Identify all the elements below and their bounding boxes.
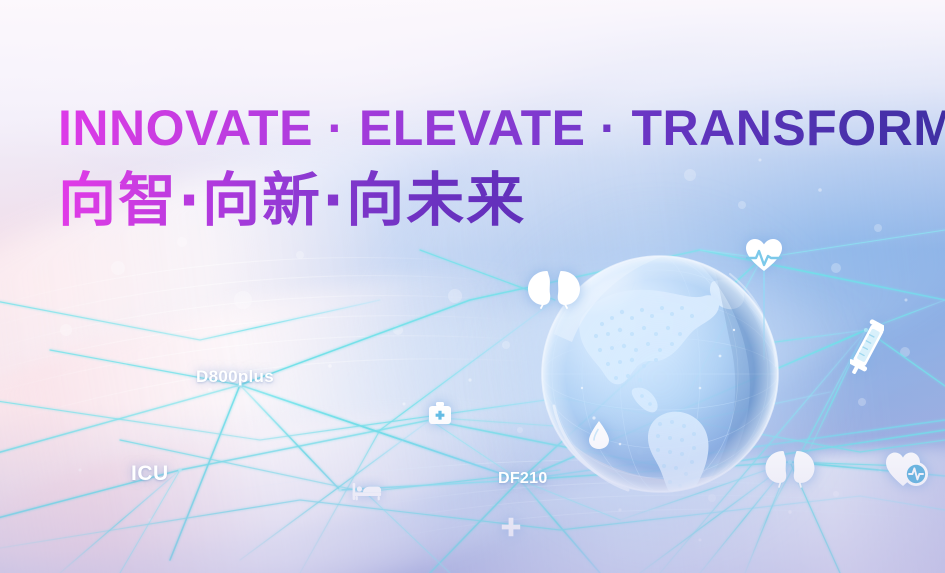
heart-pulse-pin-stem bbox=[763, 268, 765, 360]
page-title: INNOVATE · ELEVATE · TRANSFORM bbox=[58, 103, 945, 153]
node-label-d800plus: D800plus bbox=[196, 367, 274, 387]
node-label-df210: DF210 bbox=[498, 470, 548, 488]
syringe-icon bbox=[850, 318, 884, 378]
hero-banner: D800plus ICU DF210 INNOVATE · ELEVATE · … bbox=[0, 0, 945, 573]
bottom-vignette bbox=[0, 403, 945, 573]
page-subtitle: 向智·向新·向未来 bbox=[58, 170, 526, 231]
node-label-icu: ICU bbox=[131, 462, 169, 486]
heart-pulse-icon bbox=[745, 238, 783, 272]
kidney-icon bbox=[525, 267, 583, 309]
